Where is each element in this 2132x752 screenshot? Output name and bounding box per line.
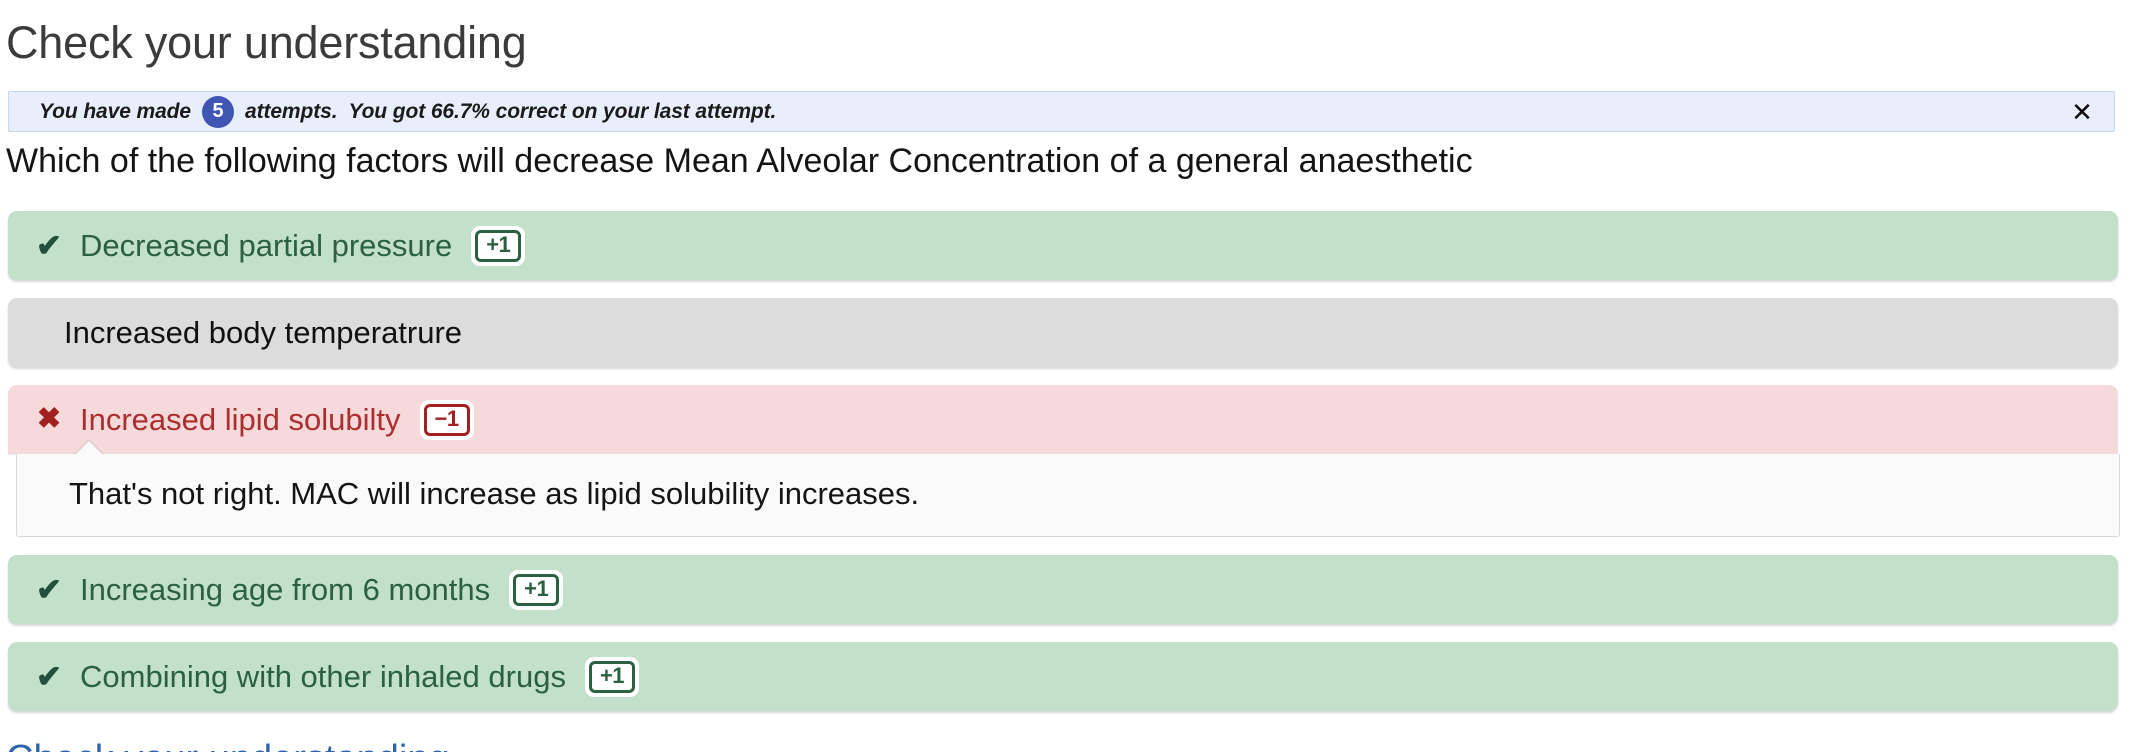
attempts-alert-text: You have made 5 attempts. You got 66.7% … bbox=[39, 96, 776, 128]
page-title: Check your understanding bbox=[6, 18, 527, 68]
check-icon: ✔ bbox=[34, 661, 64, 692]
attempts-alert-bar: You have made 5 attempts. You got 66.7% … bbox=[8, 91, 2115, 132]
score-badge-value-3: −1 bbox=[424, 404, 470, 436]
attempt-count-badge: 5 bbox=[202, 96, 234, 128]
attempts-suffix-label: attempts. bbox=[245, 100, 337, 124]
score-badge-3: −1 bbox=[420, 400, 474, 440]
option-label-4: Increasing age from 6 months bbox=[80, 572, 490, 608]
cross-icon: ✖ bbox=[34, 405, 64, 434]
close-icon[interactable]: ✕ bbox=[2068, 98, 2096, 126]
check-icon: ✔ bbox=[34, 230, 64, 261]
score-badge-value-5: +1 bbox=[589, 661, 635, 693]
attempts-prefix-label: You have made bbox=[39, 100, 191, 124]
next-section-heading: Check your understanding bbox=[6, 737, 450, 752]
option-row-3[interactable]: ✖ Increased lipid solubilty −1 bbox=[8, 385, 2118, 454]
option-label-2: Increased body temperatrure bbox=[64, 315, 462, 351]
question-text: Which of the following factors will decr… bbox=[6, 140, 1473, 182]
option-label-1: Decreased partial pressure bbox=[80, 228, 452, 264]
score-badge-value-1: +1 bbox=[475, 230, 521, 262]
last-attempt-result-label: You got 66.7% correct on your last attem… bbox=[348, 100, 776, 124]
option-label-3: Increased lipid solubilty bbox=[80, 402, 401, 438]
option-row-5[interactable]: ✔ Combining with other inhaled drugs +1 bbox=[8, 642, 2118, 711]
feedback-callout: That's not right. MAC will increase as l… bbox=[16, 454, 2120, 537]
score-badge-5: +1 bbox=[585, 657, 639, 697]
check-icon: ✔ bbox=[34, 574, 64, 605]
answer-options-list: ✔ Decreased partial pressure +1 Increase… bbox=[8, 211, 2118, 729]
option-label-5: Combining with other inhaled drugs bbox=[80, 659, 566, 695]
score-badge-value-4: +1 bbox=[513, 574, 559, 606]
quiz-page: Check your understanding You have made 5… bbox=[0, 0, 2132, 752]
feedback-caret-icon bbox=[75, 441, 103, 455]
score-badge-1: +1 bbox=[471, 226, 525, 266]
score-badge-4: +1 bbox=[509, 570, 563, 610]
option-row-4[interactable]: ✔ Increasing age from 6 months +1 bbox=[8, 555, 2118, 624]
option-row-1[interactable]: ✔ Decreased partial pressure +1 bbox=[8, 211, 2118, 280]
option-row-2[interactable]: Increased body temperatrure bbox=[8, 298, 2118, 367]
feedback-text: That's not right. MAC will increase as l… bbox=[69, 476, 919, 511]
